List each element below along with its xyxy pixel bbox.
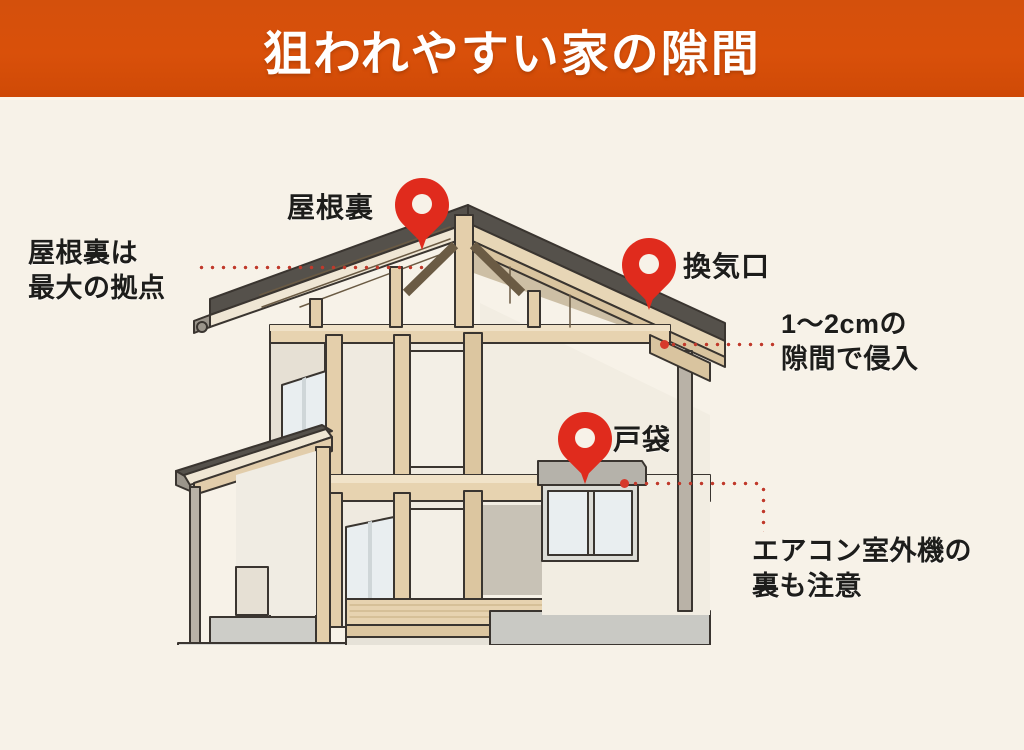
map-pin-hole xyxy=(412,194,432,214)
shutter-connector-node xyxy=(620,479,629,488)
map-pin-hole xyxy=(575,428,595,448)
map-pin-attic[interactable] xyxy=(395,178,449,252)
shutter-connector-line-h xyxy=(630,481,765,486)
annotation-outdoor-unit-note: エアコン室外機の 裏も注意 xyxy=(752,534,972,603)
annotation-vent-note: 1〜2cmの 隙間で侵入 xyxy=(781,307,919,376)
map-pin-shutter-case[interactable] xyxy=(558,412,612,486)
attic-connector-line xyxy=(196,265,428,270)
annotation-attic-note: 屋根裏は 最大の拠点 xyxy=(28,236,166,305)
pin-label-shutter-case: 戸袋 xyxy=(613,418,671,458)
vent-connector-line xyxy=(668,342,776,347)
infographic-canvas: 狙われやすい家の隙間 xyxy=(0,0,1024,750)
map-pin-vent[interactable] xyxy=(622,238,676,312)
shutter-connector-line-v xyxy=(761,484,766,532)
pin-label-attic: 屋根裏 xyxy=(287,186,374,226)
pin-label-vent: 換気口 xyxy=(683,245,770,285)
page-title: 狙われやすい家の隙間 xyxy=(0,0,1024,97)
map-pin-hole xyxy=(639,254,659,274)
banner-underline xyxy=(0,97,1024,100)
